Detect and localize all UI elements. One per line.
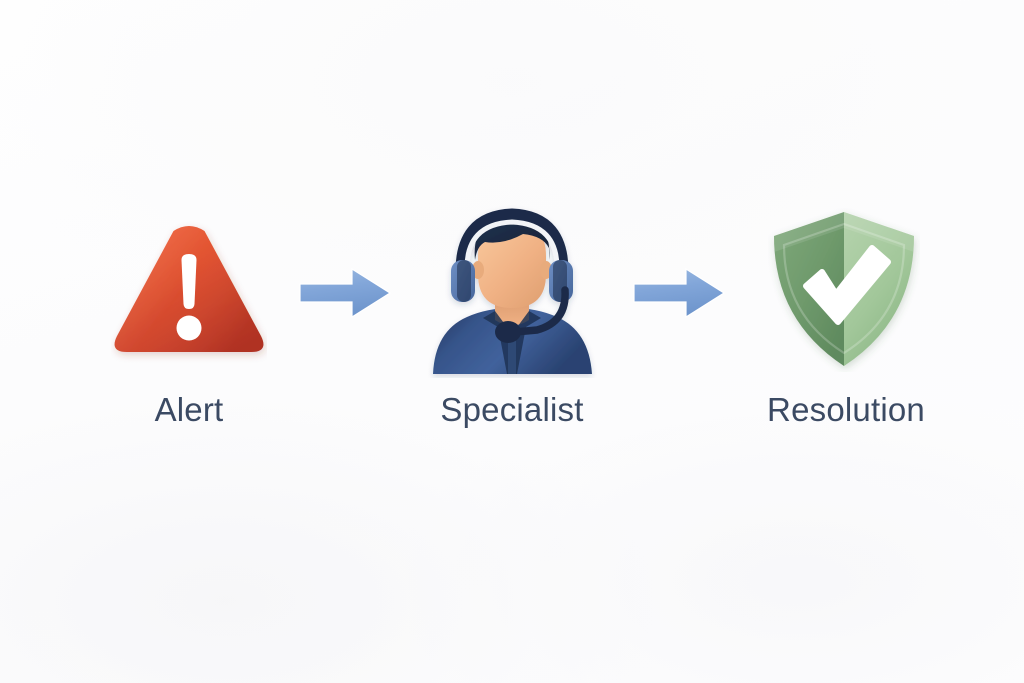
shield-check-icon (768, 208, 920, 377)
stage-label-specialist: Specialist (362, 391, 662, 429)
exclamation-bar (182, 254, 197, 309)
flow-stage-specialist[interactable]: Specialist (362, 0, 662, 683)
stage-label-alert: Alert (39, 391, 339, 429)
support-agent-headset-icon (425, 198, 600, 383)
warning-triangle-icon (111, 212, 267, 375)
flow-stage-resolution[interactable]: Resolution (696, 0, 996, 683)
headset-mic-capsule (495, 321, 521, 343)
flow-stage-alert[interactable]: Alert (39, 0, 339, 683)
diagram-canvas: Alert (0, 0, 1024, 683)
exclamation-dot (177, 316, 202, 341)
stage-label-resolution: Resolution (696, 391, 996, 429)
